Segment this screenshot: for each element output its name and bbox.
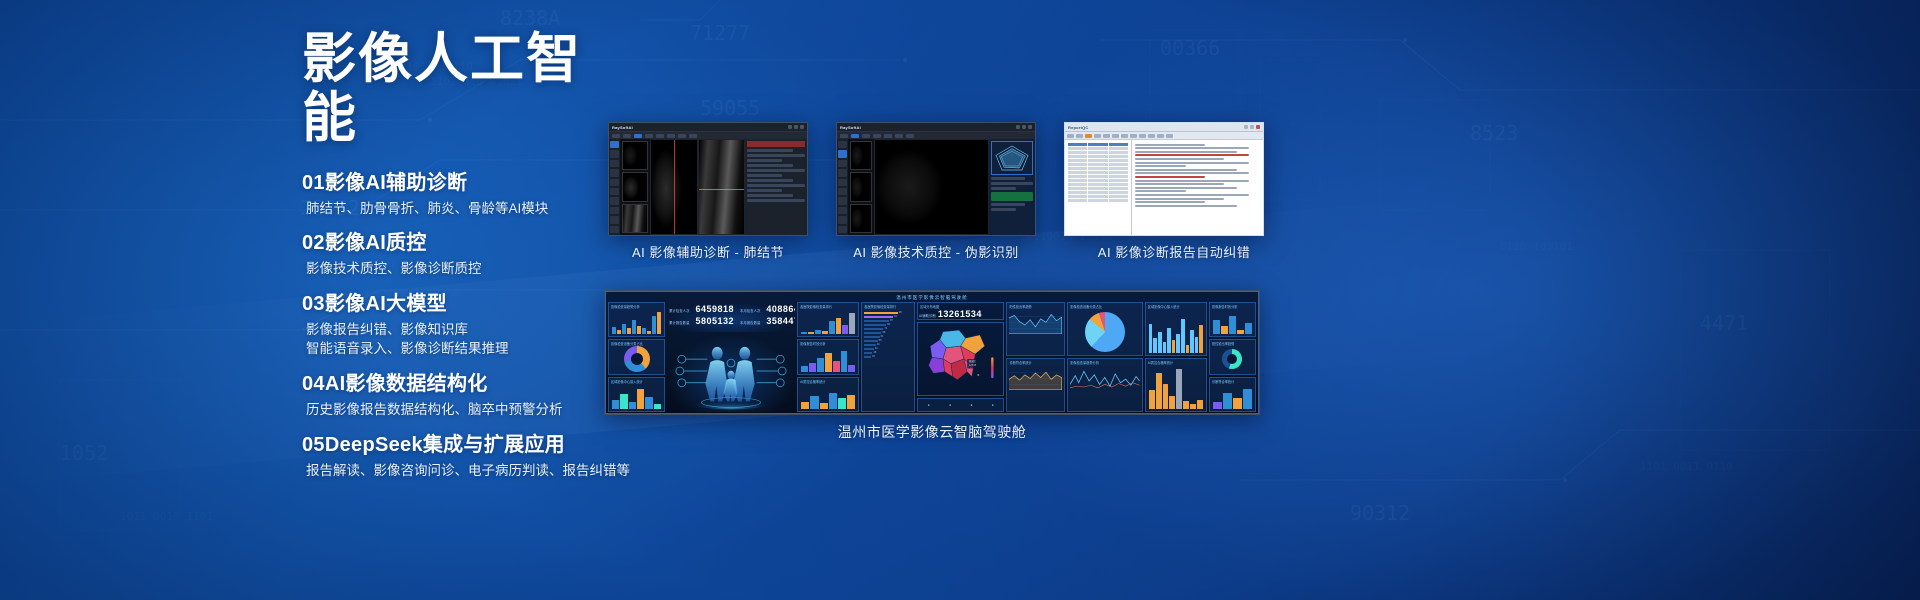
feature-description-line: 报告解读、影像咨询问诊、电子病历判读、报告纠错等 <box>306 461 632 481</box>
panel-title: 影像报告时效分析 <box>800 341 826 346</box>
panel-exam-trend[interactable]: 影像检查量趋势分析 <box>608 302 665 337</box>
maximize-icon[interactable] <box>1250 125 1254 129</box>
screenshot-caption-3: AI 影像诊断报告自动纠错 <box>1064 242 1284 261</box>
feature-description: 肺结节、肋骨骨折、肺炎、骨龄等AI模块 <box>302 199 632 219</box>
metric-label: 累计检查人次 <box>669 308 689 313</box>
qc-pass-badge <box>991 192 1033 201</box>
app-body <box>837 139 1035 235</box>
metric-label: 本月报告数量 <box>740 320 760 325</box>
artifact-radar-chart <box>991 141 1033 175</box>
minimize-icon[interactable] <box>788 125 792 129</box>
error-highlight <box>1135 154 1249 156</box>
metric-value: 13261534 <box>938 309 982 319</box>
series-thumbnail-list[interactable] <box>848 139 874 235</box>
feature-description: 报告解读、影像咨询问诊、电子病历判读、报告纠错等 <box>302 461 632 481</box>
panel-title: AI质控合格率统计 <box>1148 360 1173 365</box>
kpi-item: ● <box>992 403 994 407</box>
screenshot-imaging-cloud-dashboard[interactable]: 温州市医学影像云智脑驾驶舱 影像检查量趋势分析 影像检查设备分类占比 <box>604 290 1260 415</box>
dashboard-grid: 影像检查量趋势分析 影像检查设备分类占比 区 <box>608 302 1256 412</box>
metric-value: 358447 <box>766 316 795 326</box>
feature-number: 01 <box>302 172 325 194</box>
thumbnail-item[interactable] <box>850 141 872 170</box>
list-item[interactable]: 61 <box>864 335 912 338</box>
metric-value: 6459818 <box>695 304 734 314</box>
list-item[interactable]: 98 <box>864 311 912 314</box>
panel-right-top[interactable]: 区域影像中心接入统计 <box>1145 302 1207 356</box>
dashboard-caption: 温州市医学影像云智脑驾驶舱 <box>604 422 1260 442</box>
dashboard-column-left: 影像检查量趋势分析 影像检查设备分类占比 区 <box>608 302 665 412</box>
screenshot-ai-quality-control[interactable]: RaySoftAI <box>836 122 1036 236</box>
content-column: 影像人工智能 01影像AI辅助诊断 肺结节、肋骨骨折、肺炎、骨龄等AI模块 02… <box>302 30 632 480</box>
feature-heading: 04AI影像数据结构化 <box>302 372 632 397</box>
metric-label: 本月检查人次 <box>740 308 760 313</box>
thumbnail-item[interactable] <box>850 204 872 233</box>
viewport-sagittal[interactable] <box>698 139 746 235</box>
line-chart <box>1070 367 1140 390</box>
image-viewer[interactable] <box>650 139 745 235</box>
panel-title: 区域影像中心接入统计 <box>611 379 643 384</box>
panel-far-bottom[interactable]: 诊断符合率统计 <box>1209 377 1256 412</box>
app-logo: RaySoftAI <box>840 125 861 130</box>
findings-panel[interactable] <box>745 139 807 235</box>
feature-heading: 03影像AI大模型 <box>302 292 632 317</box>
panel-title: 影像报告时效分析 <box>1212 304 1238 309</box>
panel-title: 阳性检出率趋势 <box>1009 304 1031 309</box>
region-map: 鹿城区12345 <box>919 324 1002 394</box>
panel-right-bottom[interactable]: AI质控合格率统计 <box>1145 358 1207 412</box>
panel-region-map[interactable]: 鹿城区12345 <box>917 322 1004 396</box>
list-item[interactable]: 55 <box>864 339 912 342</box>
panel-region-access[interactable]: 区域影像中心接入统计 <box>608 377 665 412</box>
feature-description: 影像报告纠错、影像知识库 智能语音录入、影像诊断结果推理 <box>302 320 632 359</box>
thumbnail-item[interactable] <box>622 141 648 170</box>
close-icon[interactable] <box>800 125 804 129</box>
page-title: 影像人工智能 <box>302 30 632 149</box>
screenshot-caption-2: AI 影像技术质控 - 伪影识别 <box>836 242 1036 261</box>
list-item[interactable]: 43 <box>864 347 912 350</box>
dashboard-title: 温州市医学影像云智脑驾驶舱 <box>608 294 1256 301</box>
feature-list: 01影像AI辅助诊断 肺结节、肋骨骨折、肺炎、骨龄等AI模块 02影像AI质控 … <box>302 171 632 480</box>
pie-chart <box>1085 312 1125 352</box>
feature-item-04: 04AI影像数据结构化 历史影像报告数据结构化、脑卒中预警分析 <box>302 372 632 420</box>
panel-title: 诊断符合率统计 <box>1212 379 1234 384</box>
app-menubar[interactable] <box>609 132 807 139</box>
report-workspace <box>1065 140 1263 235</box>
feature-description-line: 历史影像报告数据结构化、脑卒中预警分析 <box>306 400 632 420</box>
dashboard-column-lines: 阳性检出率趋势 诊断符合率统计 <box>1006 302 1065 412</box>
list-item[interactable]: 38 <box>864 351 912 354</box>
qc-panel[interactable] <box>989 139 1035 235</box>
feature-title: 影像AI辅助诊断 <box>325 172 467 194</box>
feature-description-line: 肺结节、肋骨骨折、肺炎、骨龄等AI模块 <box>306 199 632 219</box>
list-item[interactable]: 74 <box>864 327 912 330</box>
line-chart <box>1009 311 1062 334</box>
panel-title: 影像检查量趋势分析 <box>1070 360 1099 365</box>
list-item[interactable]: 87 <box>864 319 912 322</box>
app-body <box>609 139 807 235</box>
close-icon[interactable] <box>1256 125 1260 129</box>
image-viewer[interactable] <box>874 139 989 235</box>
feature-item-02: 02影像AI质控 影像技术质控、影像诊断质控 <box>302 231 632 279</box>
panel-title: AI质控合格率统计 <box>800 379 825 384</box>
dashboard-column-ranking: 各医院影像检查量排行 98 91 87 80 74 68 61 55 49 43… <box>861 302 915 412</box>
panel-positive-rate-trend[interactable]: 阳性检出率趋势 <box>1006 302 1065 356</box>
feature-number: 03 <box>302 293 325 315</box>
findings-header <box>747 141 805 147</box>
svg-text:鹿城区: 鹿城区 <box>969 359 977 363</box>
feature-description-line: 智能语音录入、影像诊断结果推理 <box>306 339 632 359</box>
metric-label: AI辅助诊断 <box>919 313 936 318</box>
maximize-icon[interactable] <box>794 125 798 129</box>
feature-heading: 02影像AI质控 <box>302 231 632 256</box>
report-toolbar[interactable] <box>1065 132 1263 140</box>
minimize-icon[interactable] <box>1016 125 1020 129</box>
tool-rail[interactable] <box>837 139 848 235</box>
panel-monthly-bars[interactable]: 影像检查量趋势分析 <box>1067 358 1143 412</box>
metric-value: 5805132 <box>695 316 734 326</box>
dashboard-column-hero: 累计检查人次 6459818 本月检查人次 408864 累计报告数量 5805… <box>667 302 795 412</box>
dashboard-column-charts: 各医院影像检查量排行 影像报告时效分析 <box>797 302 859 412</box>
close-icon[interactable] <box>1028 125 1032 129</box>
panel-ai-qc-rate[interactable]: AI质控合格率统计 <box>797 377 859 412</box>
panel-ai-counter: 区域分布地图 AI辅助诊断 13261534 今日新增 3287 <box>917 302 1004 320</box>
donut-chart <box>1222 349 1242 369</box>
area-chart <box>1009 367 1062 390</box>
panel-title: 各医院影像检查量排行 <box>800 304 832 309</box>
list-item[interactable]: 49 <box>864 343 912 346</box>
panel-title: 区域影像中心接入统计 <box>1148 304 1180 309</box>
metric-value: 408864 <box>766 304 795 314</box>
app-menubar[interactable] <box>837 132 1035 139</box>
thumbnail-item[interactable] <box>622 172 648 201</box>
list-item[interactable]: 80 <box>864 323 912 326</box>
panel-map-kpis: ● ● ● ● <box>917 398 1004 412</box>
feature-description: 影像技术质控、影像诊断质控 <box>302 259 632 279</box>
feature-description: 历史影像报告数据结构化、脑卒中预警分析 <box>302 400 632 420</box>
dashboard-column-right: 区域影像中心接入统计 AI质控合格率统计 <box>1145 302 1207 412</box>
app-titlebar: RaySoftAI <box>837 123 1035 132</box>
app-titlebar: RaySoftAI <box>609 123 807 132</box>
feature-item-01: 01影像AI辅助诊断 肺结节、肋骨骨折、肺炎、骨龄等AI模块 <box>302 171 632 219</box>
panel-key-metrics: 累计检查人次 6459818 本月检查人次 408864 累计报告数量 5805… <box>667 302 795 332</box>
panel-diagnosis-accuracy[interactable]: 诊断符合率统计 <box>1006 358 1065 412</box>
dashboard-column-map: 区域分布地图 AI辅助诊断 13261534 今日新增 3287 <box>917 302 1004 412</box>
panel-title: 阳性检出率趋势 <box>1212 341 1234 346</box>
dashboard-column-far-right: 影像报告时效分析 阳性检出率趋势 诊断符合率统计 <box>1209 302 1256 412</box>
thumbnail-item[interactable] <box>850 172 872 201</box>
panel-hospital-rank[interactable]: 各医院影像检查量排行 <box>797 302 859 337</box>
patient-list-pane[interactable] <box>1065 140 1132 235</box>
list-item[interactable]: 68 <box>864 331 912 334</box>
metric-label: 累计报告数量 <box>669 320 689 325</box>
app-logo: ReportQC <box>1068 125 1089 130</box>
screenshot-report-auto-correction[interactable]: ReportQC <box>1064 122 1264 236</box>
panel-far-mid[interactable]: 阳性检出率趋势 <box>1209 339 1256 374</box>
dashboard-column-pie: 影像检查设备分类占比 影像检查量趋势分析 <box>1067 302 1143 412</box>
feature-number: 05 <box>302 434 325 456</box>
panel-title: 诊断符合率统计 <box>1009 360 1031 365</box>
feature-number: 02 <box>302 232 325 254</box>
panel-modality-pie[interactable]: 影像检查设备分类占比 <box>1067 302 1143 356</box>
app-logo: RaySoftAI <box>612 125 633 130</box>
thumbnail-item[interactable] <box>622 204 648 233</box>
dashboard-root: 温州市医学影像云智脑驾驶舱 影像检查量趋势分析 影像检查设备分类占比 <box>605 291 1259 414</box>
maximize-icon[interactable] <box>1022 125 1026 129</box>
panel-human-body-model[interactable] <box>667 334 795 412</box>
feature-title: AI影像数据结构化 <box>325 373 488 395</box>
kpi-item: ● <box>928 403 930 407</box>
metric-value: 3287 <box>935 319 957 320</box>
panel-title: 区域分布地图 <box>920 304 939 309</box>
panel-device-share[interactable]: 影像检查设备分类占比 <box>608 339 665 374</box>
svg-text:12345: 12345 <box>969 364 977 367</box>
tool-rail[interactable] <box>609 139 620 235</box>
list-item[interactable]: 33 <box>864 355 912 358</box>
feature-description-line: 影像报告纠错、影像知识库 <box>306 320 632 340</box>
panel-title: 影像检查量趋势分析 <box>611 304 640 309</box>
kpi-item: ● <box>949 403 951 407</box>
panel-far-top[interactable]: 影像报告时效分析 <box>1209 302 1256 337</box>
feature-title: 影像AI质控 <box>325 232 427 254</box>
panel-ranking-list[interactable]: 各医院影像检查量排行 98 91 87 80 74 68 61 55 49 43… <box>861 302 915 412</box>
series-thumbnail-list[interactable] <box>620 139 650 235</box>
viewport-axial[interactable] <box>874 139 989 235</box>
screenshot-ai-assisted-diagnosis[interactable]: RaySoftAI <box>608 122 808 236</box>
feature-description-line: 影像技术质控、影像诊断质控 <box>306 259 632 279</box>
feature-item-05: 05DeepSeek集成与扩展应用 报告解读、影像咨询问诊、电子病历判读、报告纠… <box>302 433 632 481</box>
panel-title: 影像检查设备分类占比 <box>1070 304 1102 309</box>
minimize-icon[interactable] <box>1244 125 1248 129</box>
viewport-axial[interactable] <box>650 139 698 235</box>
human-figure-illustration <box>668 335 794 411</box>
kpi-item: ● <box>970 403 972 407</box>
feature-item-03: 03影像AI大模型 影像报告纠错、影像知识库 智能语音录入、影像诊断结果推理 <box>302 292 632 359</box>
panel-title: 各医院影像检查量排行 <box>864 304 896 309</box>
donut-chart <box>624 346 650 372</box>
report-text-pane[interactable] <box>1132 140 1263 235</box>
app-titlebar: ReportQC <box>1065 123 1263 132</box>
feature-title: DeepSeek集成与扩展应用 <box>325 434 565 456</box>
feature-heading: 01影像AI辅助诊断 <box>302 171 632 196</box>
screenshot-caption-1: AI 影像辅助诊断 - 肺结节 <box>608 242 808 261</box>
error-highlight <box>1135 176 1205 178</box>
feature-heading: 05DeepSeek集成与扩展应用 <box>302 433 632 458</box>
list-item[interactable]: 91 <box>864 315 912 318</box>
feature-title: 影像AI大模型 <box>325 293 447 315</box>
feature-number: 04 <box>302 373 325 395</box>
panel-report-timeliness[interactable]: 影像报告时效分析 <box>797 339 859 374</box>
